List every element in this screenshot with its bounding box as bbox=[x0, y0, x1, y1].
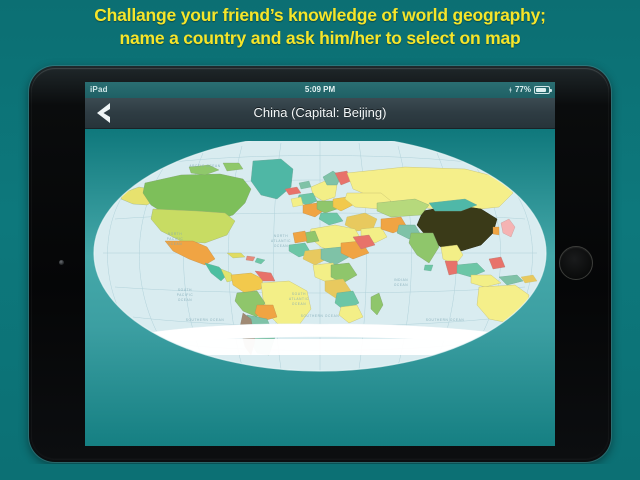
promo-headline-line-2: name a country and ask him/her to select… bbox=[0, 27, 640, 50]
battery-icon bbox=[534, 86, 550, 94]
svg-text:SOUTHERN OCEAN: SOUTHERN OCEAN bbox=[426, 318, 465, 322]
front-camera-icon bbox=[59, 260, 64, 265]
svg-text:PACIFIC: PACIFIC bbox=[167, 237, 184, 241]
battery-percent-label: 77% bbox=[515, 82, 531, 98]
page-title: China (Capital: Beijing) bbox=[85, 98, 555, 128]
svg-text:OCEAN: OCEAN bbox=[274, 244, 288, 248]
ipad-screen: iPad 5:09 PM 77% China (Capital: Be bbox=[85, 82, 555, 446]
svg-text:SOUTHERN OCEAN: SOUTHERN OCEAN bbox=[186, 318, 225, 322]
svg-text:ARCTIC OCEAN: ARCTIC OCEAN bbox=[189, 164, 220, 168]
svg-text:INDIAN: INDIAN bbox=[394, 278, 409, 282]
footer-background bbox=[0, 464, 640, 480]
app-content-area: NORTH PACIFIC OCEAN NORTH ATLANTIC OCEAN… bbox=[85, 129, 555, 446]
ipad-device-frame: iPad 5:09 PM 77% China (Capital: Be bbox=[29, 66, 611, 462]
status-bar: iPad 5:09 PM 77% bbox=[85, 82, 555, 98]
svg-text:PACIFIC: PACIFIC bbox=[177, 293, 194, 297]
battery-fill bbox=[536, 88, 546, 92]
svg-text:NORTH: NORTH bbox=[168, 232, 182, 236]
promo-screenshot-root: Challange your friend’s knowledge of wor… bbox=[0, 0, 640, 480]
promo-headline-line-1: Challange your friend’s knowledge of wor… bbox=[94, 5, 546, 25]
home-button-circle-icon[interactable] bbox=[559, 246, 593, 280]
svg-text:SOUTH: SOUTH bbox=[178, 288, 192, 292]
svg-text:ATLANTIC: ATLANTIC bbox=[289, 297, 309, 301]
svg-text:SOUTHERN OCEAN: SOUTHERN OCEAN bbox=[301, 314, 340, 318]
world-map-svg: NORTH PACIFIC OCEAN NORTH ATLANTIC OCEAN… bbox=[85, 141, 555, 373]
promo-headline: Challange your friend’s knowledge of wor… bbox=[0, 4, 640, 50]
lightning-bolt-icon bbox=[509, 87, 512, 94]
svg-text:NORTH: NORTH bbox=[274, 234, 288, 238]
svg-text:OCEAN: OCEAN bbox=[168, 242, 182, 246]
status-bar-right-group: 77% bbox=[509, 82, 550, 98]
svg-text:OCEAN: OCEAN bbox=[394, 283, 408, 287]
svg-text:ATLANTIC: ATLANTIC bbox=[271, 239, 291, 243]
svg-text:SOUTH: SOUTH bbox=[292, 292, 306, 296]
status-bar-time: 5:09 PM bbox=[85, 82, 555, 98]
world-map[interactable]: NORTH PACIFIC OCEAN NORTH ATLANTIC OCEAN… bbox=[85, 141, 555, 373]
svg-text:OCEAN: OCEAN bbox=[292, 302, 306, 306]
svg-text:OCEAN: OCEAN bbox=[178, 298, 192, 302]
navigation-bar: China (Capital: Beijing) bbox=[85, 98, 555, 129]
